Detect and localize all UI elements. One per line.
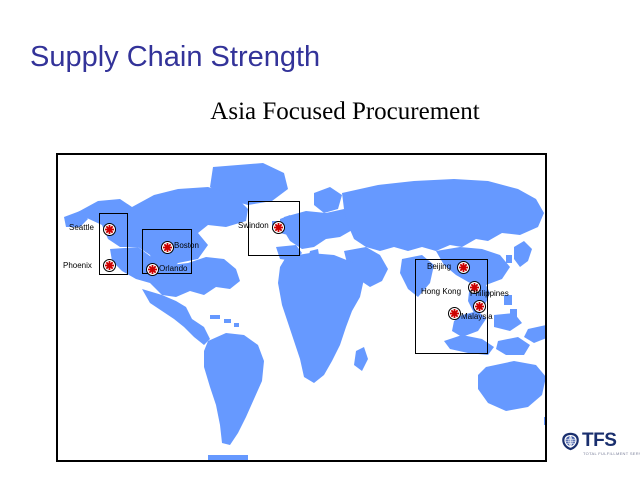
city-label-boston: Boston <box>174 241 199 250</box>
city-label-hong-kong: Hong Kong <box>421 287 461 296</box>
city-label-swindon: Swindon <box>238 221 269 230</box>
page-subtitle-text: Asia Focused Procurement <box>210 98 479 126</box>
tfs-shield-globe-icon <box>561 432 580 451</box>
city-label-seattle: Seattle <box>69 223 94 232</box>
map-pin-star-icon[interactable] <box>103 259 116 272</box>
city-label-philippines: Philippines <box>470 289 509 298</box>
tfs-wordmark: TFS <box>582 430 616 451</box>
map-pin-star-icon[interactable] <box>457 261 470 274</box>
map-pin-star-icon[interactable] <box>161 241 174 254</box>
city-label-orlando: Orlando <box>159 264 187 273</box>
city-label-beijing: Beijing <box>427 262 451 271</box>
world-map-canvas: Seattle Phoenix Boston Orlando Swindon <box>58 155 545 460</box>
city-label-phoenix: Phoenix <box>63 261 92 270</box>
city-label-malaysia: Malaysia <box>461 312 493 321</box>
map-pin-star-icon[interactable] <box>146 263 159 276</box>
slide-canvas: Supply Chain Strength Asia Focused Procu… <box>0 0 640 480</box>
tfs-logo: TFS TOTAL FULFILLMENT SERVICES <box>561 430 633 460</box>
world-map-frame: Seattle Phoenix Boston Orlando Swindon <box>56 153 547 462</box>
map-pin-star-icon[interactable] <box>103 223 116 236</box>
page-subtitle: Asia Focused Procurement <box>0 98 640 126</box>
map-pin-star-icon[interactable] <box>448 307 461 320</box>
page-title: Supply Chain Strength <box>30 41 320 74</box>
map-pin-star-icon[interactable] <box>272 221 285 234</box>
tfs-tagline: TOTAL FULFILLMENT SERVICES <box>583 451 640 456</box>
